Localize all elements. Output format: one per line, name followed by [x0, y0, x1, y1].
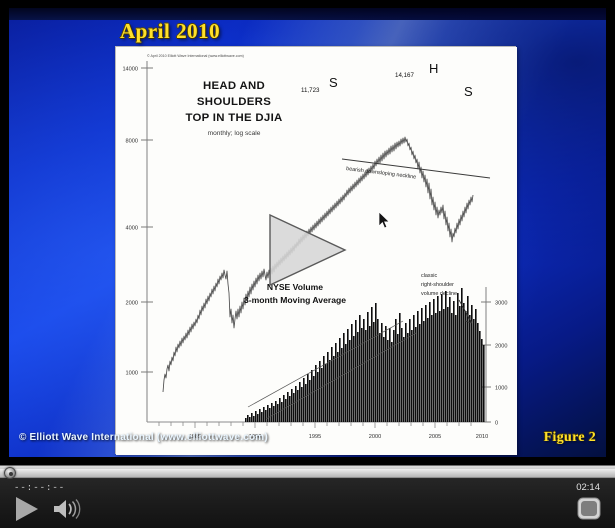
play-button[interactable] — [13, 496, 41, 522]
fullscreen-button[interactable] — [575, 496, 603, 522]
slide-footer-copyright: © Elliott Wave International (www.elliot… — [19, 432, 268, 443]
seek-handle[interactable] — [4, 467, 16, 479]
y-left-tick-2000: 2000 — [126, 301, 138, 307]
y-left-tick-4000: 4000 — [126, 226, 138, 232]
slide-figure-label: Figure 2 — [544, 430, 596, 446]
volume-decline-line-2: right-shoulder — [421, 282, 454, 288]
total-time-label: 02:14 — [576, 482, 600, 493]
volume-decline-line-1: classic — [421, 273, 437, 279]
annotation-right-shoulder-label: S — [464, 84, 473, 99]
chart-copyright: © April 2010 Elliott Wave International … — [147, 54, 244, 58]
chart-title-line-3: TOP IN THE DJIA — [185, 112, 282, 124]
y-left-tick-1000: 1000 — [126, 371, 138, 377]
video-player-controls: --:--:-- 02:14 — [0, 465, 615, 528]
chart-title-line-1: HEAD AND — [203, 80, 265, 92]
slide-top-band — [9, 8, 606, 20]
play-overlay-button[interactable] — [265, 212, 349, 288]
stage-bottom-bar — [0, 457, 615, 465]
current-time-label: --:--:-- — [14, 483, 65, 493]
chart-title-line-2: SHOULDERS — [197, 96, 271, 108]
y-right-tick-0: 0 — [495, 421, 498, 427]
y-left-tick-8000: 8000 — [126, 139, 138, 145]
video-stage[interactable]: April 2010 © April 2010 Elliott Wave Int… — [0, 0, 615, 465]
seek-track[interactable] — [0, 469, 615, 477]
y-right-tick-2000: 2000 — [495, 344, 507, 350]
slide-title: April 2010 — [120, 19, 220, 44]
annotation-head-label: H — [429, 61, 438, 76]
annotation-head-price: 14,167 — [395, 72, 414, 79]
seek-bar[interactable] — [0, 465, 615, 479]
volume-title-line-2: 3-month Moving Average — [244, 295, 346, 305]
control-bar: --:--:-- 02:14 — [0, 479, 615, 528]
slide-footer: © Elliott Wave International (www.elliot… — [9, 427, 606, 457]
y-right-tick-1000: 1000 — [495, 386, 507, 392]
annotation-left-shoulder-price: 11,723 — [301, 87, 320, 94]
annotation-left-shoulder-label: S — [329, 75, 338, 90]
chart-subtitle: monthly; log scale — [208, 130, 261, 137]
volume-button[interactable] — [53, 498, 83, 520]
volume-decline-line-3: volume decline — [421, 291, 457, 297]
y-right-tick-3000: 3000 — [495, 301, 507, 307]
y-left-tick-14000: 14000 — [122, 67, 138, 73]
